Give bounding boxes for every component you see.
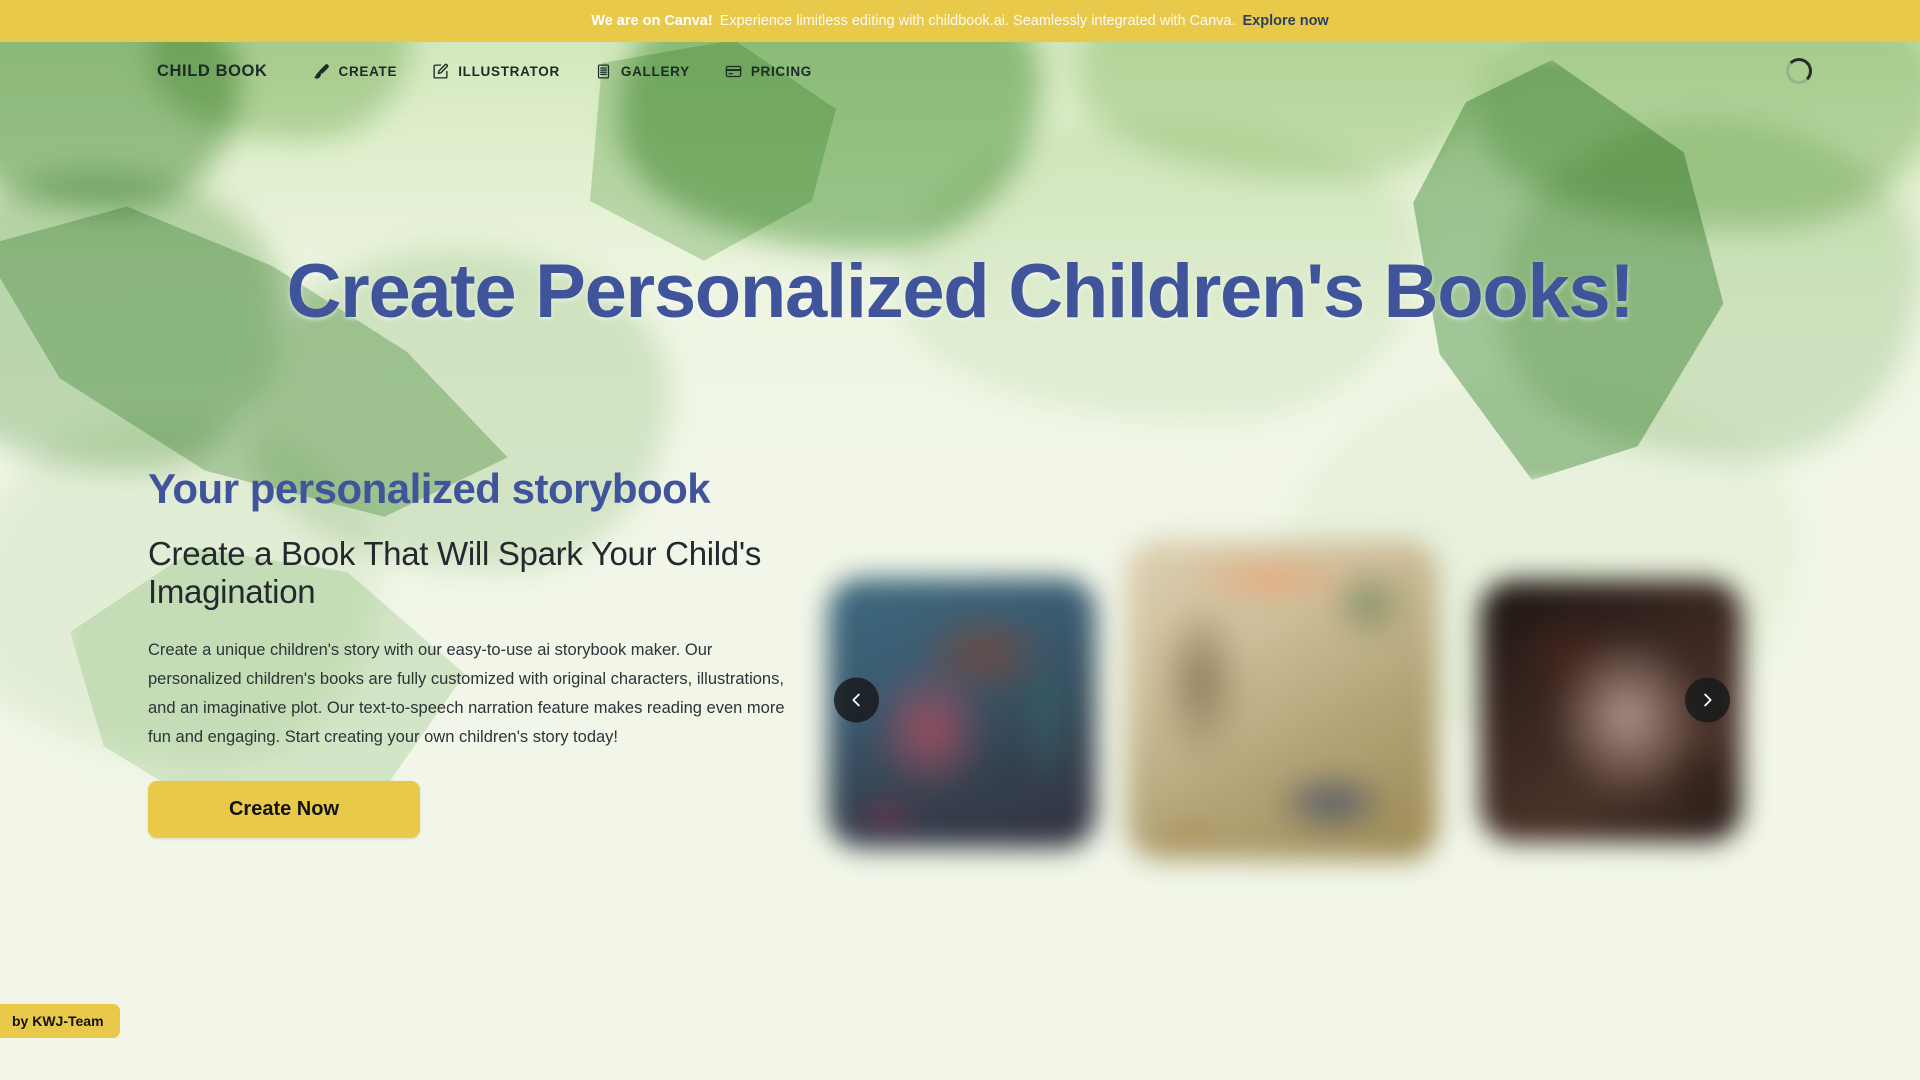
storybook-carousel: [820, 540, 1780, 860]
nav-label-pricing: PRICING: [751, 64, 812, 79]
paintbrush-icon: [313, 63, 330, 80]
brand-logo[interactable]: CHILD BOOK: [157, 62, 268, 81]
pencil-square-icon: [432, 63, 449, 80]
credit-card-icon: [725, 63, 742, 80]
loading-spinner-icon[interactable]: [1786, 58, 1812, 84]
section-heading: Create a Book That Will Spark Your Child…: [148, 535, 800, 612]
nav-item-gallery[interactable]: GALLERY: [595, 63, 690, 80]
chevron-right-icon: [1698, 691, 1717, 710]
carousel-prev-button[interactable]: [834, 678, 879, 723]
hero-content-column: Your personalized storybook Create a Boo…: [148, 465, 808, 838]
carousel-slide[interactable]: [1126, 540, 1438, 860]
nav-items: CREATE ILLUSTRATOR: [313, 63, 812, 80]
nav-item-illustrator[interactable]: ILLUSTRATOR: [432, 63, 560, 80]
banner-strong-text: We are on Canva!: [591, 13, 712, 29]
create-now-button[interactable]: Create Now: [148, 781, 420, 838]
team-credit-badge[interactable]: by KWJ-Team: [0, 1004, 120, 1038]
section-paragraph: Create a unique children's story with ou…: [148, 636, 790, 752]
carousel-next-button[interactable]: [1685, 678, 1730, 723]
nav-label-illustrator: ILLUSTRATOR: [458, 64, 560, 79]
page-title: Create Personalized Children's Books!: [0, 248, 1920, 335]
banner-body-text: Experience limitless editing with childb…: [720, 13, 1236, 29]
nav-label-gallery: GALLERY: [621, 64, 690, 79]
chevron-left-icon: [847, 691, 866, 710]
main-navigation: CHILD BOOK CREATE ILLUS: [0, 42, 1920, 100]
nav-label-create: CREATE: [339, 64, 398, 79]
explore-now-link[interactable]: Explore now: [1243, 13, 1329, 29]
nav-item-create[interactable]: CREATE: [313, 63, 398, 80]
page-root: We are on Canva! Experience limitless ed…: [0, 0, 1920, 1080]
nav-item-pricing[interactable]: PRICING: [725, 63, 812, 80]
announcement-banner: We are on Canva! Experience limitless ed…: [0, 0, 1920, 42]
book-list-icon: [595, 63, 612, 80]
section-subtitle: Your personalized storybook: [148, 465, 808, 513]
